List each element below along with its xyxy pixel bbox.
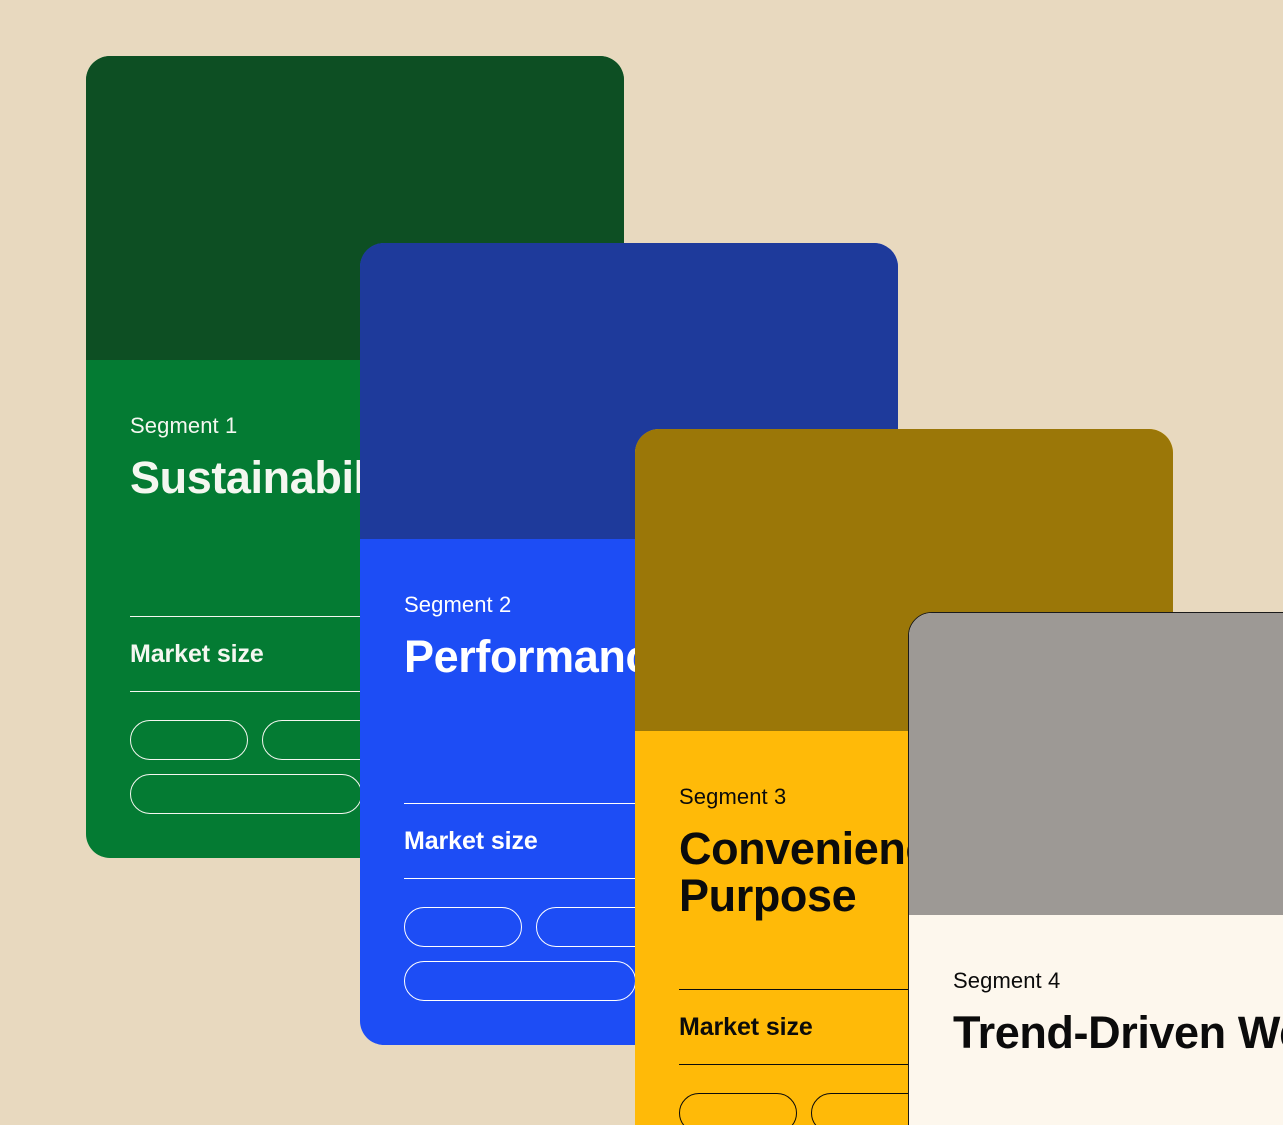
tag-pill[interactable] [404, 907, 522, 947]
tag-pill[interactable] [404, 961, 636, 1001]
tag-pill[interactable] [130, 774, 362, 814]
segment-title: Trend-Driven Wellness [953, 1009, 1283, 1057]
card-stack-canvas: Segment 1 Sustainability Market size Seg… [0, 0, 1283, 1125]
card-body: Segment 4 Trend-Driven Wellness Market s… [909, 915, 1283, 1125]
segment-card-4[interactable]: Segment 4 Trend-Driven Wellness Market s… [908, 612, 1283, 1125]
tag-pill[interactable] [130, 720, 248, 760]
card-image-placeholder [909, 613, 1283, 915]
body-spacer [953, 1056, 1283, 1125]
tag-pill[interactable] [679, 1093, 797, 1125]
segment-label: Segment 4 [953, 967, 1283, 995]
